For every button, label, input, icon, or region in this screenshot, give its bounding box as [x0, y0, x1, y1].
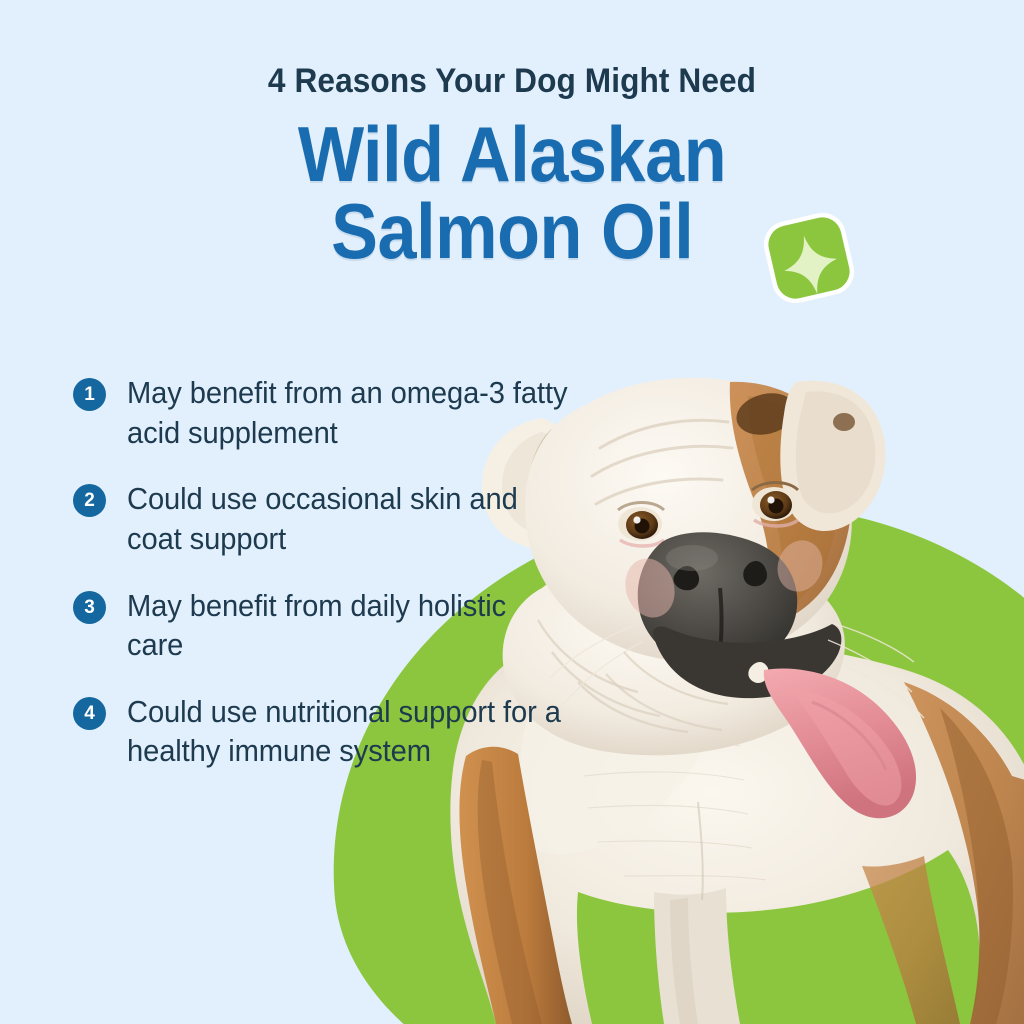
reason-text-3: May benefit from daily holistic care [127, 587, 569, 666]
list-item: 2 Could use occasional skin and coat sup… [70, 480, 590, 559]
list-item: 1 May benefit from an omega-3 fatty acid… [70, 374, 590, 453]
product-title: Wild Alaskan Salmon Oil [0, 116, 1024, 269]
reason-text-4: Could use nutritional support for a heal… [127, 693, 569, 772]
title-line-1: Wild Alaskan [51, 116, 973, 192]
list-item: 4 Could use nutritional support for a he… [70, 693, 590, 772]
eyebrow-text: 4 Reasons Your Dog Might Need [36, 0, 988, 100]
title-line-2: Salmon Oil [331, 193, 693, 269]
reasons-list: 1 May benefit from an omega-3 fatty acid… [70, 374, 590, 772]
number-badge-3: 3 [73, 591, 106, 624]
headline-block: 4 Reasons Your Dog Might Need Wild Alask… [0, 0, 1024, 269]
promo-graphic: 4 Reasons Your Dog Might Need Wild Alask… [0, 0, 1024, 1024]
number-badge-1: 1 [73, 378, 106, 411]
green-sparkle-badge-icon [760, 209, 858, 307]
list-item: 3 May benefit from daily holistic care [70, 587, 590, 666]
reason-text-1: May benefit from an omega-3 fatty acid s… [127, 374, 569, 453]
reason-text-2: Could use occasional skin and coat suppo… [127, 480, 569, 559]
number-badge-2: 2 [73, 484, 106, 517]
number-badge-4: 4 [73, 697, 106, 730]
